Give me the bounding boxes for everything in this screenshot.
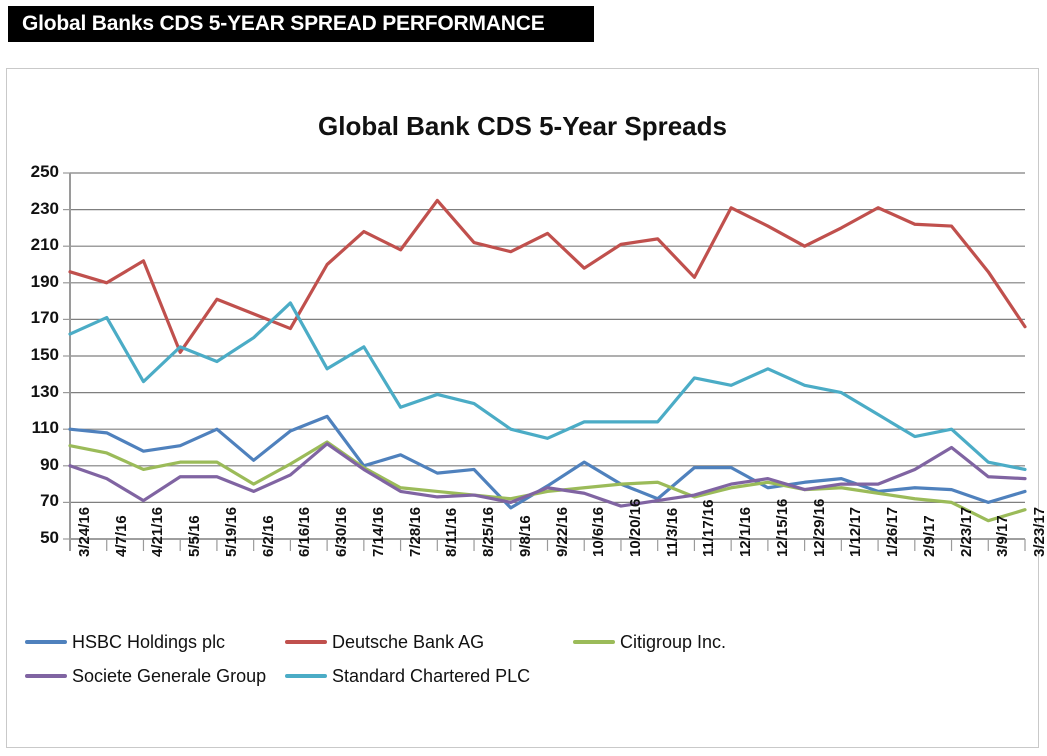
series-line-deutsche-bank-ag <box>70 200 1025 352</box>
legend-row: Societe Generale GroupStandard Chartered… <box>25 659 1025 693</box>
chart-container: Global Bank CDS 5-Year Spreads 250230210… <box>6 68 1039 748</box>
x-axis-tick-label: 6/30/16 <box>333 507 350 557</box>
y-axis-tick-label: 90 <box>15 455 59 475</box>
legend-item[interactable]: Citigroup Inc. <box>573 632 726 653</box>
legend-item[interactable]: Deutsche Bank AG <box>285 632 484 653</box>
x-axis-tick-label: 2/9/17 <box>921 515 938 557</box>
y-axis-tick-label: 150 <box>15 345 59 365</box>
legend-color-swatch <box>573 640 615 644</box>
x-axis-tick-label: 4/7/16 <box>113 515 130 557</box>
series-line-standard-chartered-plc <box>70 303 1025 470</box>
banner-title: Global Banks CDS 5-YEAR SPREAD PERFORMAN… <box>22 12 545 36</box>
x-axis-tick-label: 10/6/16 <box>590 507 607 557</box>
x-axis-tick-label: 12/15/16 <box>774 499 791 557</box>
x-axis-tick-label: 3/9/17 <box>994 515 1011 557</box>
chart-legend: HSBC Holdings plcDeutsche Bank AGCitigro… <box>25 625 1025 693</box>
page-banner: Global Banks CDS 5-YEAR SPREAD PERFORMAN… <box>8 6 594 42</box>
y-axis-tick-label: 210 <box>15 235 59 255</box>
x-axis-tick-label: 4/21/16 <box>149 507 166 557</box>
y-axis-tick-label: 190 <box>15 272 59 292</box>
legend-label: Citigroup Inc. <box>620 632 726 653</box>
x-axis-tick-label: 11/17/16 <box>700 499 717 557</box>
x-axis-tick-label: 9/22/16 <box>554 507 571 557</box>
x-axis-tick-label: 8/11/16 <box>443 508 460 557</box>
legend-label: Standard Chartered PLC <box>332 666 530 687</box>
legend-label: Deutsche Bank AG <box>332 632 484 653</box>
legend-label: HSBC Holdings plc <box>72 632 225 653</box>
x-axis-tick-label: 6/16/16 <box>296 507 313 557</box>
y-axis-tick-label: 170 <box>15 308 59 328</box>
y-axis-tick-label: 250 <box>15 162 59 182</box>
legend-label: Societe Generale Group <box>72 666 266 687</box>
y-axis-tick-label: 230 <box>15 199 59 219</box>
legend-color-swatch <box>25 640 67 644</box>
x-axis-tick-label: 7/14/16 <box>370 507 387 557</box>
series-line-societe-generale-group <box>70 444 1025 506</box>
legend-color-swatch <box>285 674 327 678</box>
x-axis-tick-label: 5/5/16 <box>186 515 203 557</box>
legend-row: HSBC Holdings plcDeutsche Bank AGCitigro… <box>25 625 1025 659</box>
x-axis-tick-label: 10/20/16 <box>627 499 644 557</box>
legend-item[interactable]: HSBC Holdings plc <box>25 632 225 653</box>
x-axis-tick-label: 8/25/16 <box>480 507 497 557</box>
chart-page: Global Banks CDS 5-YEAR SPREAD PERFORMAN… <box>0 0 1047 756</box>
y-axis-tick-label: 70 <box>15 491 59 511</box>
x-axis-tick-label: 3/24/16 <box>76 507 93 557</box>
x-axis-tick-label: 6/2/16 <box>260 515 277 557</box>
x-axis-tick-label: 7/28/16 <box>407 507 424 557</box>
x-axis-tick-label: 11/3/16 <box>664 508 681 557</box>
y-axis-tick-label: 110 <box>15 418 59 438</box>
legend-item[interactable]: Standard Chartered PLC <box>285 666 530 687</box>
y-axis-tick-label: 50 <box>15 528 59 548</box>
x-axis-tick-label: 5/19/16 <box>223 507 240 557</box>
x-axis-tick-label: 1/12/17 <box>847 507 864 557</box>
x-axis-tick-label: 9/8/16 <box>517 515 534 557</box>
x-axis-tick-label: 2/23/17 <box>958 507 975 557</box>
x-axis-tick-label: 3/23/17 <box>1031 507 1047 557</box>
legend-color-swatch <box>25 674 67 678</box>
x-axis-tick-label: 1/26/17 <box>884 507 901 557</box>
y-axis-tick-label: 130 <box>15 382 59 402</box>
x-axis-tick-label: 12/29/16 <box>811 499 828 557</box>
legend-color-swatch <box>285 640 327 644</box>
x-axis-tick-label: 12/1/16 <box>737 507 754 557</box>
legend-item[interactable]: Societe Generale Group <box>25 666 266 687</box>
